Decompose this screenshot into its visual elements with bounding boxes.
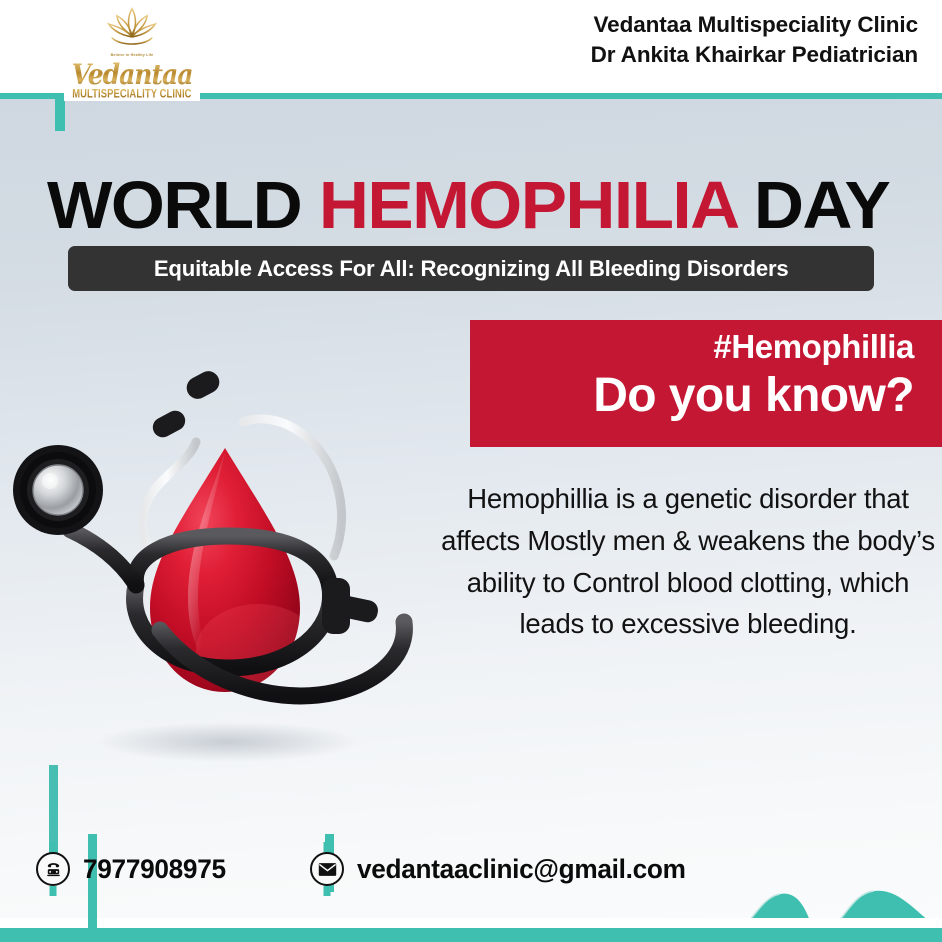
contact-phone[interactable]: 7977908975 xyxy=(36,852,230,886)
doctor-name: Dr Ankita Khairkar Pediatrician xyxy=(591,40,918,70)
phone-number[interactable]: 7977908975 xyxy=(83,854,226,885)
contact-email[interactable]: vedantaaclinic@gmail.com xyxy=(310,852,696,886)
blood-drop-stethoscope-illustration xyxy=(0,330,470,790)
subtitle-text: Equitable Access For All: Recognizing Al… xyxy=(154,256,789,282)
logo-subtitle: MULTISPECIALITY CLINIC xyxy=(72,89,191,101)
poster-root: Vedantaa Multispeciality Clinic Dr Ankit… xyxy=(0,0,942,942)
clinic-logo: Believe in Healthy Life Vedantaa MULTISP… xyxy=(64,0,200,101)
logo-tagline: Believe in Healthy Life xyxy=(111,53,154,57)
lotus-icon xyxy=(97,4,167,52)
telephone-icon xyxy=(36,852,70,886)
clinic-name: Vedantaa Multispeciality Clinic xyxy=(591,10,918,40)
hashtag-label: #Hemophillia xyxy=(470,326,914,367)
page-title: WORLD HEMOPHILIA DAY xyxy=(47,172,889,239)
envelope-icon xyxy=(310,852,344,886)
footer-teal-bar xyxy=(0,928,942,942)
question-headline: Do you know? xyxy=(470,369,914,423)
email-address[interactable]: vedantaaclinic@gmail.com xyxy=(357,854,686,885)
title-part-2: DAY xyxy=(736,168,889,243)
body-paragraph: Hemophillia is a genetic disorder that a… xyxy=(440,478,936,645)
title-part-1: WORLD xyxy=(47,168,319,243)
logo-wordmark: Vedantaa xyxy=(72,61,193,89)
title-highlight: HEMOPHILIA xyxy=(319,168,736,243)
clinic-identity: Vedantaa Multispeciality Clinic Dr Ankit… xyxy=(591,10,918,70)
subtitle-banner: Equitable Access For All: Recognizing Al… xyxy=(68,246,874,291)
callout-banner: #Hemophillia Do you know? xyxy=(470,320,942,447)
